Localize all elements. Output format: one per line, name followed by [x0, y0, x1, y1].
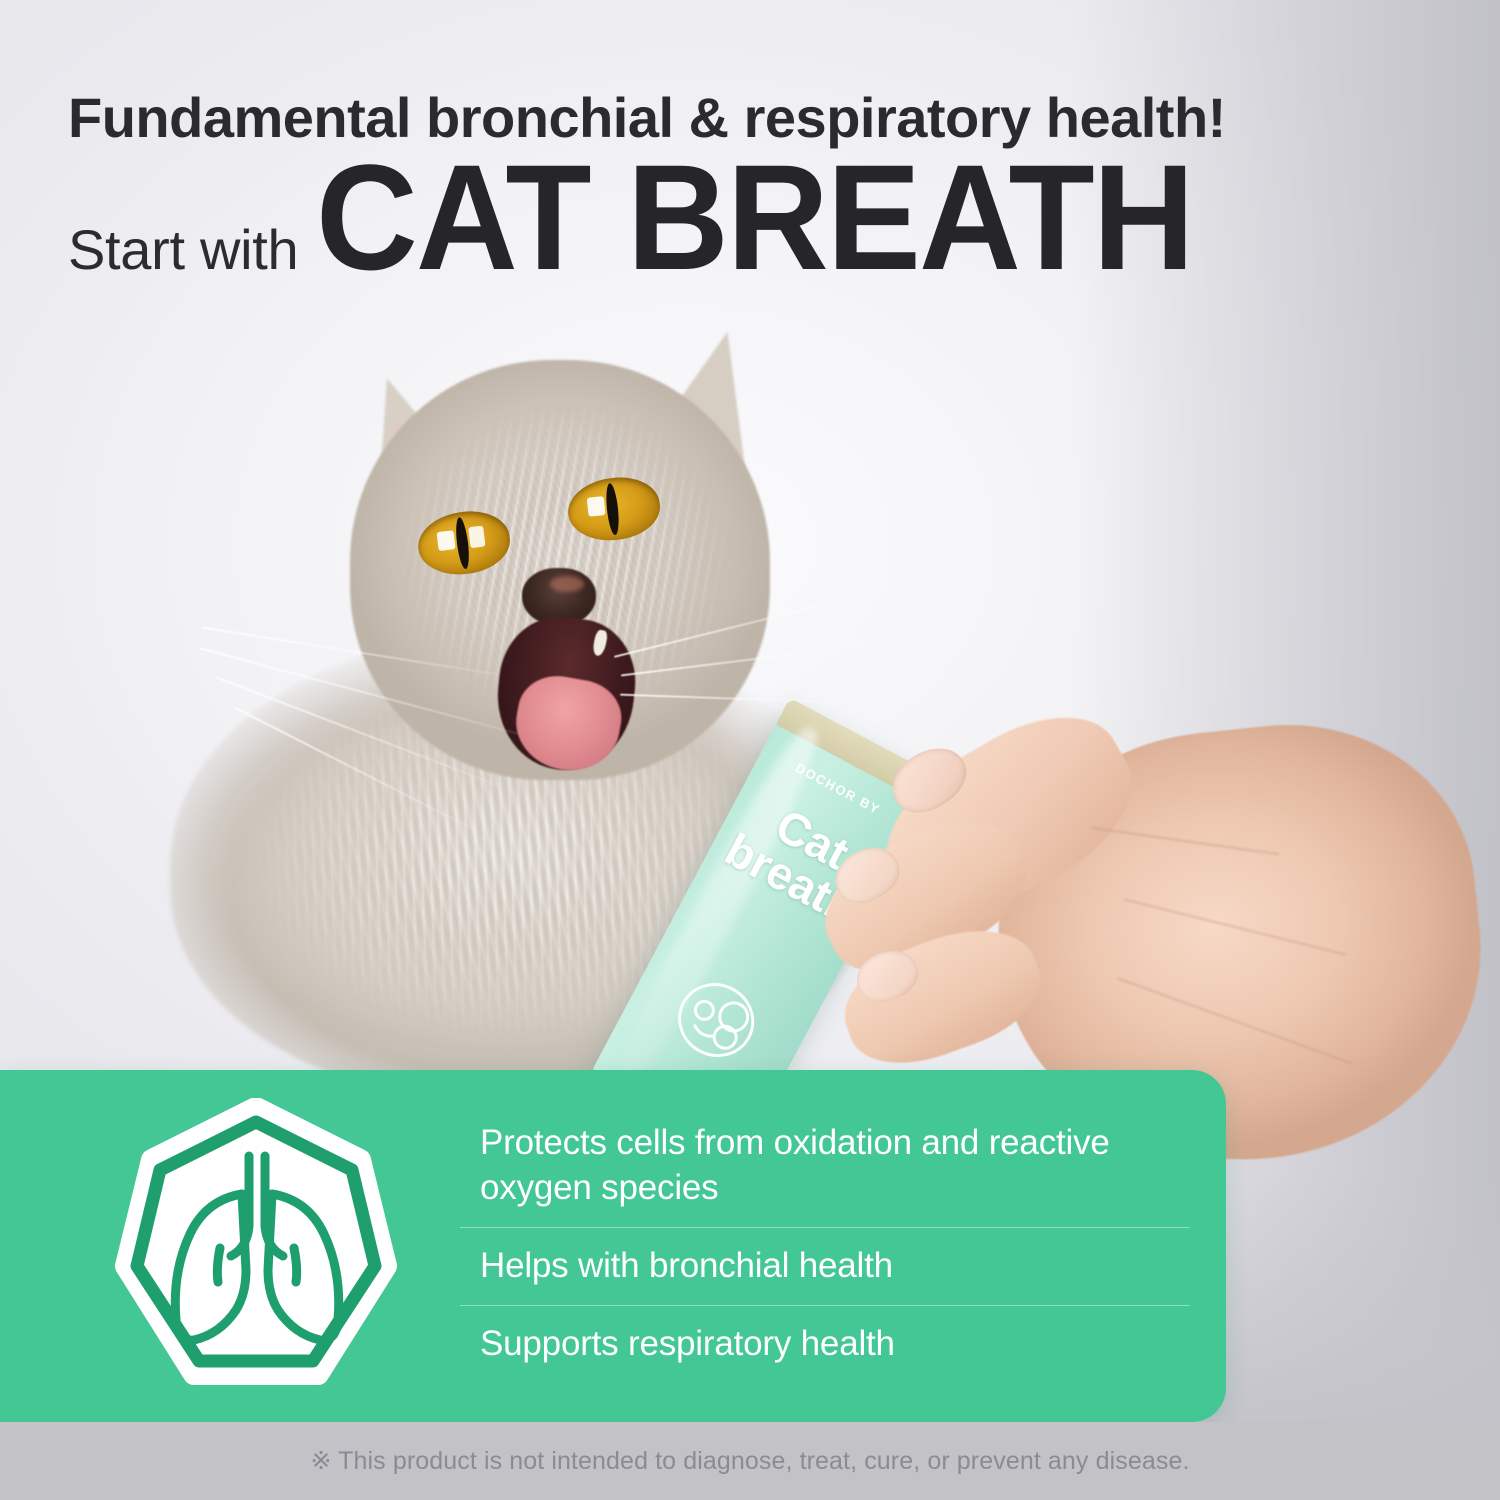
advertisement-canvas: DOCHOR BY Cat breath: [0, 0, 1500, 1500]
feature-item-2: Helps with bronchial health: [450, 1228, 1190, 1305]
feature-panel: Protects cells from oxidation and reacti…: [0, 1070, 1226, 1422]
feature-item-1: Protects cells from oxidation and reacti…: [450, 1111, 1190, 1227]
cat-eye-glint-right: [587, 496, 606, 517]
lungs-icon: [108, 1098, 404, 1394]
footer-bar: ※ This product is not intended to diagno…: [0, 1422, 1500, 1500]
headline-block: Fundamental bronchial & respiratory heal…: [68, 88, 1468, 282]
product-wordmark: CAT BREATH: [316, 153, 1193, 282]
feature-item-3: Supports respiratory health: [450, 1306, 1190, 1383]
feature-list: Protects cells from oxidation and reacti…: [450, 1092, 1190, 1402]
disclaimer-text: ※ This product is not intended to diagno…: [311, 1446, 1190, 1476]
headline-main-row: Start with CAT BREATH: [68, 153, 1468, 282]
headline-prefix: Start with: [68, 217, 298, 282]
